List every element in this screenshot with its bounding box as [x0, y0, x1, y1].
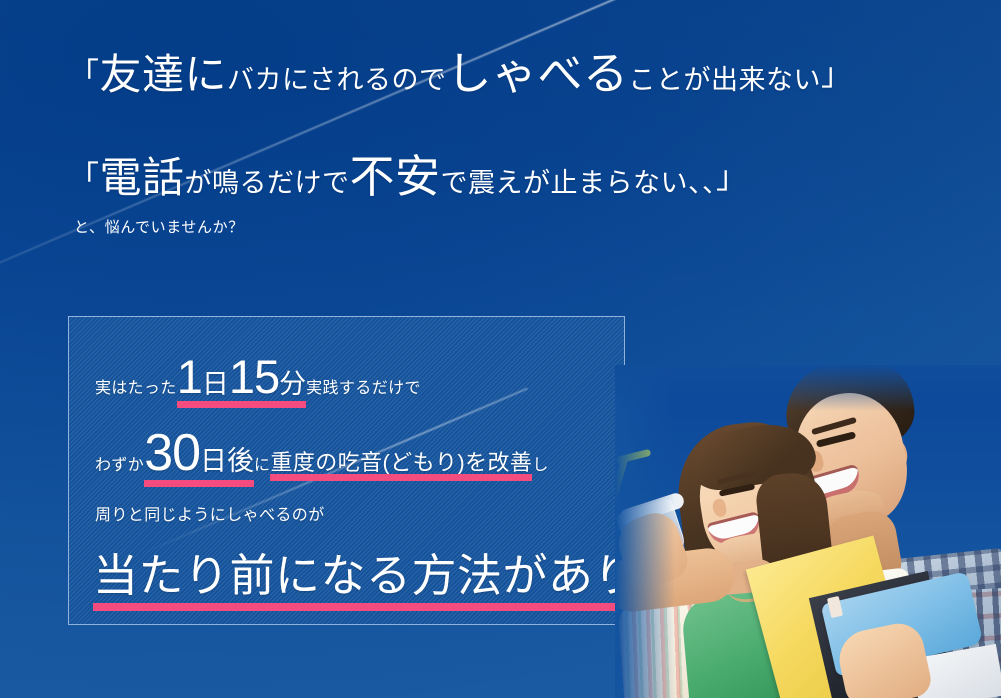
headline-primary: 「友達にバカにされるのでしゃべることが出来ない」 [68, 37, 853, 102]
promo-line-1-suffix: 実践するだけで [306, 380, 421, 397]
woman-striped-cardigan [618, 598, 717, 698]
man-tshirt [837, 567, 921, 675]
woman-smiling-mouth [707, 511, 763, 547]
promo-line-1-number-2: 15 [229, 350, 279, 403]
promo-line-2-suffix: し [532, 457, 548, 474]
headline-2-emphasis-1: 電話 [100, 154, 185, 201]
man-face [785, 384, 916, 534]
promo-line-2-underlined-benefit: 重度の吃音(どもり)を改善 [270, 445, 532, 477]
headline-2-close-bracket: 」 [716, 160, 748, 195]
promo-line-2-prefix: わずか [95, 457, 144, 474]
blue-pencil-pouch [821, 571, 984, 677]
woman-chin [712, 530, 784, 579]
iced-drink-cup [615, 497, 688, 570]
man-hand-holding-cup [615, 507, 693, 594]
landing-page-hero: 「友達にバカにされるのでしゃべることが出来ない」 「電話が鳴るだけで不安で震えが… [0, 0, 1001, 698]
subheadline-question: と、悩んでいませんか？ [74, 216, 244, 237]
man-eye [816, 431, 857, 447]
photo-top-fade [615, 365, 1001, 411]
woman-green-top [680, 588, 817, 698]
promo-line-2-unit: 日後 [200, 446, 254, 476]
headline-1-open-bracket: 「 [68, 57, 100, 92]
headline-2-emphasis-2: 不安 [350, 151, 441, 202]
promo-line-2: わずか30日後に重度の吃音(どもり)を改善し [95, 423, 549, 483]
promo-line-1-unit-2: 分 [279, 369, 306, 399]
promo-line-3: 周りと同じようにしゃべるのが [95, 501, 325, 525]
promo-line-1-number-1: 1 [177, 350, 202, 403]
promo-line-1: 実はたった1日15分実践するだけで [95, 349, 421, 404]
headline-1-emphasis-1: 友達に [100, 51, 228, 98]
woman-necklace [725, 570, 772, 604]
woman-eye [719, 483, 755, 496]
man-smiling-mouth [801, 464, 864, 505]
yellow-notebook [746, 535, 912, 698]
woman-hair-back [670, 415, 829, 612]
promo-line-2-emphasis: 重度の吃音(どもり)を改善 [270, 450, 532, 475]
drink-cup-lid [618, 491, 686, 527]
woman-face [692, 436, 808, 574]
man-necklace [849, 562, 897, 602]
woman-neck [720, 557, 780, 612]
man-eyebrow [811, 417, 857, 435]
headline-1-body-2: ことが出来ない [629, 65, 822, 95]
black-book [809, 571, 955, 698]
pouch-label-tag [827, 596, 843, 618]
promo-line-4: 当たり前になる方法があります。 [93, 539, 625, 604]
promo-line-2-underlined-days: 30日後 [144, 423, 254, 483]
headline-2-open-bracket: 「 [68, 160, 100, 195]
promo-line-1-unit-1: 日 [202, 369, 229, 399]
man-chin [807, 486, 888, 542]
woman-eyebrow [717, 470, 757, 485]
man-neck [823, 507, 905, 594]
headline-2-body-1: が鳴るだけで [185, 168, 350, 198]
promo-line-2-particle: に [254, 457, 270, 474]
promo-message-box: 実はたった1日15分実践するだけで わずか30日後に重度の吃音(どもり)を改善し… [68, 316, 625, 625]
promo-line-2-number: 30 [144, 424, 200, 482]
man-hand-holding-books [834, 619, 934, 698]
couple-photo [615, 365, 1001, 698]
headline-2-body-2: で震えが止まらない、、 [441, 168, 717, 198]
photo-sky-background [615, 365, 1001, 698]
promo-line-4-text: 当たり前になる方法があります。 [93, 550, 625, 601]
white-papers [911, 644, 1001, 698]
man-ear [880, 435, 911, 473]
headline-1-emphasis-2: しゃべる [446, 48, 628, 99]
man-nose [805, 449, 826, 473]
promo-line-3-text: 周りと同じようにしゃべるのが [95, 507, 325, 524]
man-arm-over-shoulder [615, 545, 738, 614]
promo-line-4-underlined-conclusion: 当たり前になる方法があります。 [93, 539, 625, 604]
promo-line-1-underlined-duration: 1日15分 [177, 349, 306, 404]
headline-secondary: 「電話が鳴るだけで不安で震えが止まらない、、」 [68, 140, 748, 205]
woman-hair-side [754, 470, 838, 617]
headline-1-close-bracket: 」 [821, 57, 853, 92]
woman-nose [711, 498, 727, 518]
man-plaid-shirt-sleeve [912, 587, 1001, 698]
promo-line-1-prefix: 実はたった [95, 380, 177, 397]
woman-hair-bangs [687, 418, 819, 495]
man-plaid-shirt [856, 548, 1001, 698]
headline-1-body-1: バカにされるので [227, 65, 446, 95]
man-hair [779, 365, 920, 460]
